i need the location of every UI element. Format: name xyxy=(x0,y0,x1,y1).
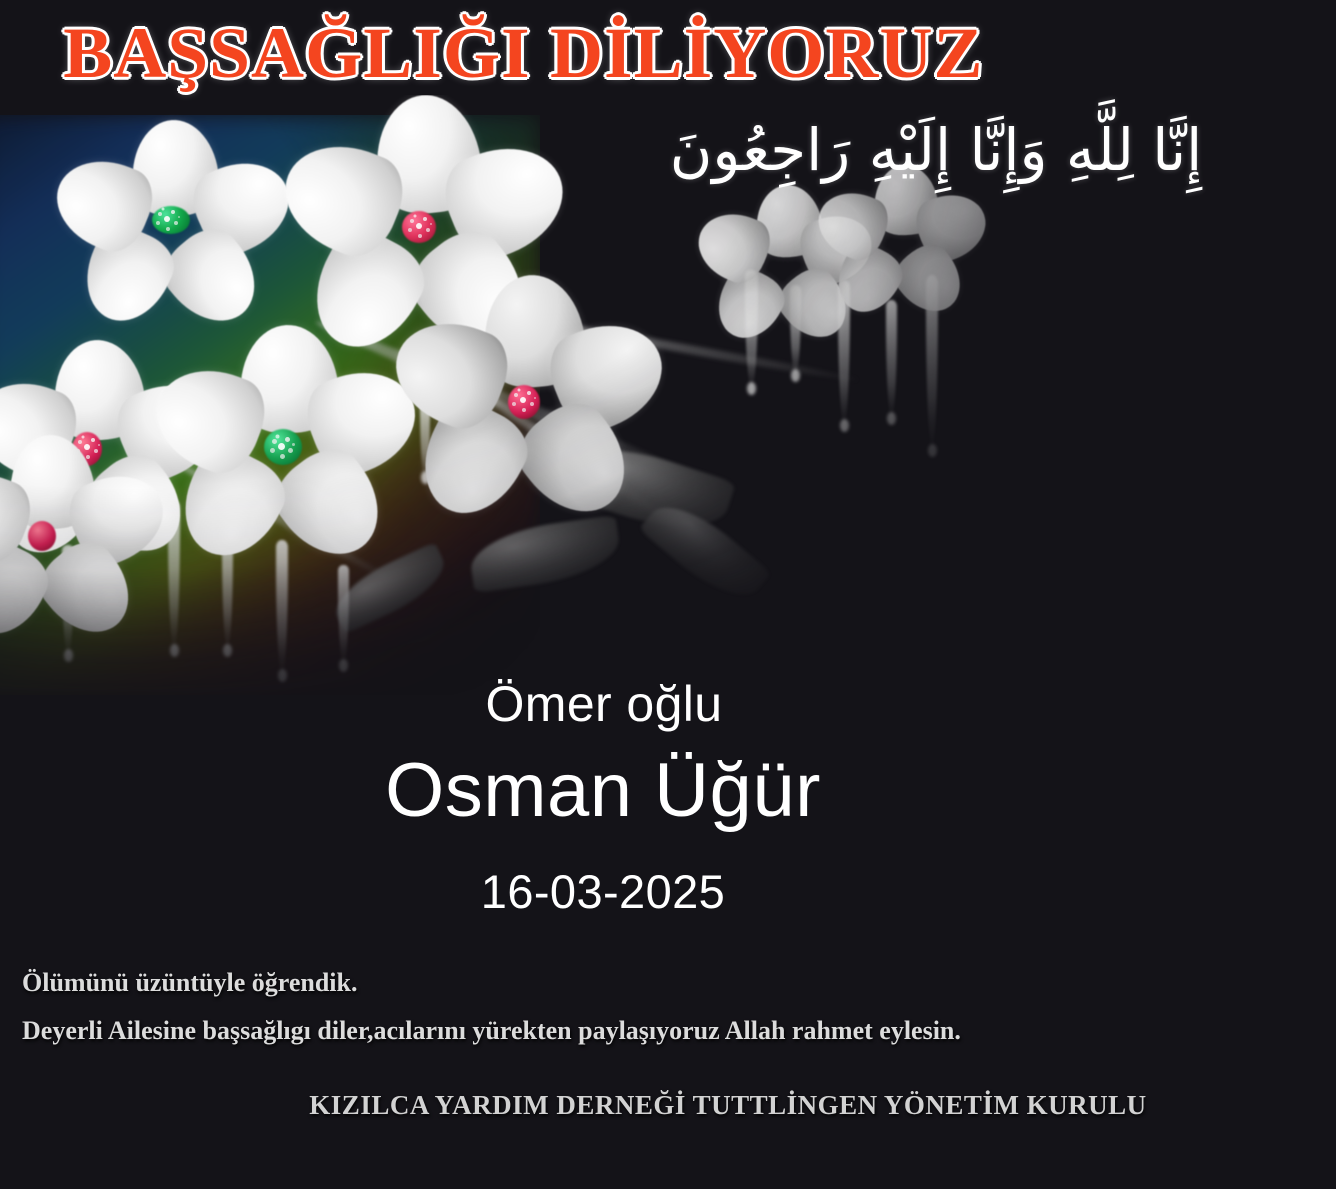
memorial-card: BAŞSAĞLIĞI DİLİYORUZ إِنَّا لِلَّهِ وَإِ… xyxy=(0,0,1336,1189)
stamen xyxy=(416,223,422,229)
deceased-info: Ömer oğlu Osman Üğür 16-03-2025 xyxy=(0,676,1336,920)
stamen xyxy=(278,443,285,450)
message-line-2: Deyerli Ailesine başsağlıgı diler,acılar… xyxy=(22,1010,1322,1052)
page-title: BAŞSAĞLIĞI DİLİYORUZ xyxy=(0,14,1336,92)
flower-core xyxy=(152,206,190,234)
flower-core xyxy=(28,521,56,551)
arabic-verse: إِنَّا لِلَّهِ وَإِنَّا إِلَيْهِ رَاجِعُ… xyxy=(556,108,1316,192)
stamen xyxy=(164,216,170,222)
father-name-line: Ömer oğlu xyxy=(0,676,1336,732)
blossom xyxy=(400,275,660,530)
blossom xyxy=(160,325,410,570)
death-date: 16-03-2025 xyxy=(0,864,1336,920)
condolence-message: Ölümünü üzüntüyle öğrendik. Deyerli Aile… xyxy=(22,962,1322,1052)
message-line-1: Ölümünü üzüntüyle öğrendik. xyxy=(22,962,1322,1004)
blossom xyxy=(0,435,155,645)
deceased-full-name: Osman Üğür xyxy=(0,744,1336,838)
stamen xyxy=(520,397,526,403)
blossom xyxy=(60,120,280,335)
organization-signature: KIZILCA YARDIM DERNEĞİ TUTTLİNGEN YÖNETİ… xyxy=(0,1087,1336,1123)
